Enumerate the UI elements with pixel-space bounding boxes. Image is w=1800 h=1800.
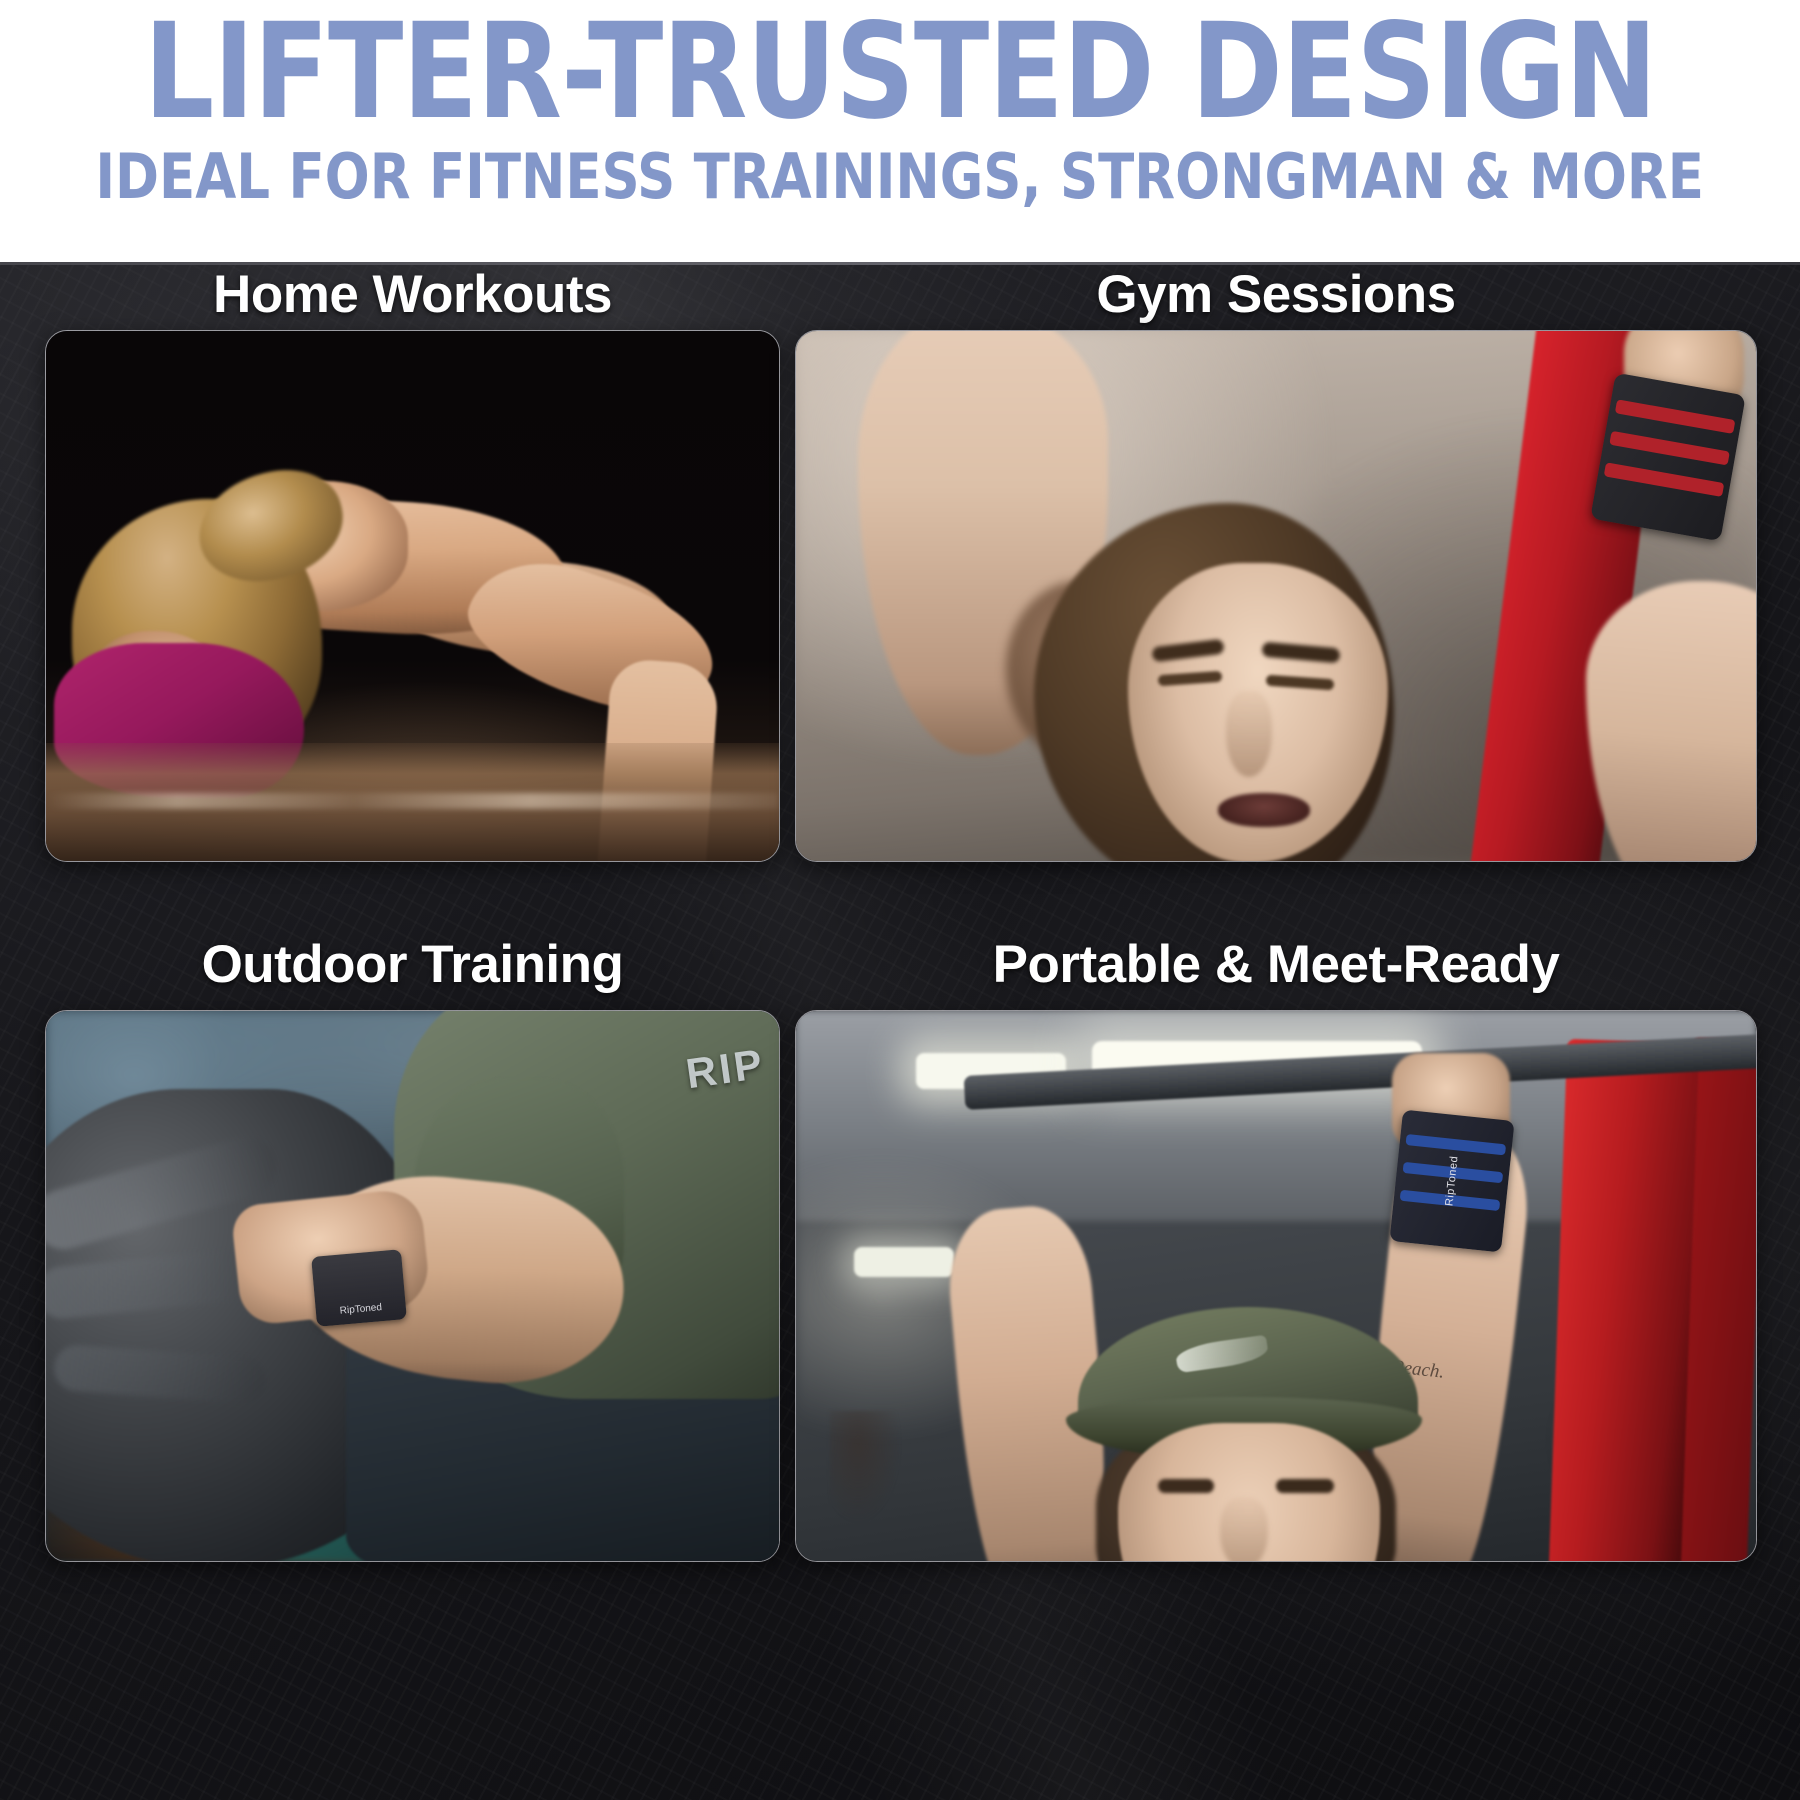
header-banner: LIFTER-TRUSTED DESIGN IDEAL FOR FITNESS … (0, 0, 1800, 262)
photo-mouth (1218, 793, 1310, 827)
photo-red-power-rack (1549, 1039, 1699, 1561)
feature-label-home-workouts: Home Workouts (45, 264, 780, 325)
photo-floor-highlight (46, 793, 779, 809)
wrap-stripe (1604, 462, 1725, 497)
page-title: LIFTER-TRUSTED DESIGN (144, 6, 1656, 138)
feature-photo-outdoor-training: RIP RipToned (45, 1010, 780, 1562)
feature-photo-gym-sessions (795, 330, 1757, 862)
photo-ceiling-light (854, 1247, 954, 1277)
feature-cell-gym-sessions: Gym Sessions (795, 262, 1757, 862)
feature-cell-outdoor-training: Outdoor Training RIP (45, 934, 780, 1562)
product-wrist-wrap (1590, 373, 1746, 542)
photo-eye-left (1158, 1479, 1214, 1493)
wrap-stripe (1615, 399, 1736, 434)
feature-label-outdoor-training: Outdoor Training (45, 934, 780, 995)
feature-grid: Home Workouts (0, 262, 1800, 1800)
wrap-stripe (1406, 1134, 1507, 1155)
feature-cell-portable-meet-ready: Portable & Meet-Ready (795, 934, 1757, 1562)
photo-right-arm (1586, 581, 1756, 861)
photo-left-arm-tattoo (830, 1411, 900, 1521)
photo-nose (1226, 691, 1272, 777)
photo-eye-right (1276, 1479, 1334, 1493)
feature-label-gym-sessions: Gym Sessions (795, 264, 1757, 325)
page-subtitle: IDEAL FOR FITNESS TRAININGS, STRONGMAN &… (96, 146, 1705, 208)
feature-photo-home-workouts: RipToned (45, 330, 780, 862)
wrap-brand-label: RipToned (339, 1302, 382, 1317)
product-wrist-wrap: RipToned (1389, 1110, 1514, 1253)
product-wrist-wrap: RipToned (311, 1249, 407, 1327)
wrap-stripe (1609, 431, 1730, 466)
photo-nose (1220, 1497, 1268, 1561)
feature-label-portable-meet-ready: Portable & Meet-Ready (795, 934, 1757, 995)
feature-cell-home-workouts: Home Workouts (45, 262, 780, 862)
product-feature-graphic: LIFTER-TRUSTED DESIGN IDEAL FOR FITNESS … (0, 0, 1800, 1800)
feature-photo-portable-meet-ready: RipToned Peach. (795, 1010, 1757, 1562)
